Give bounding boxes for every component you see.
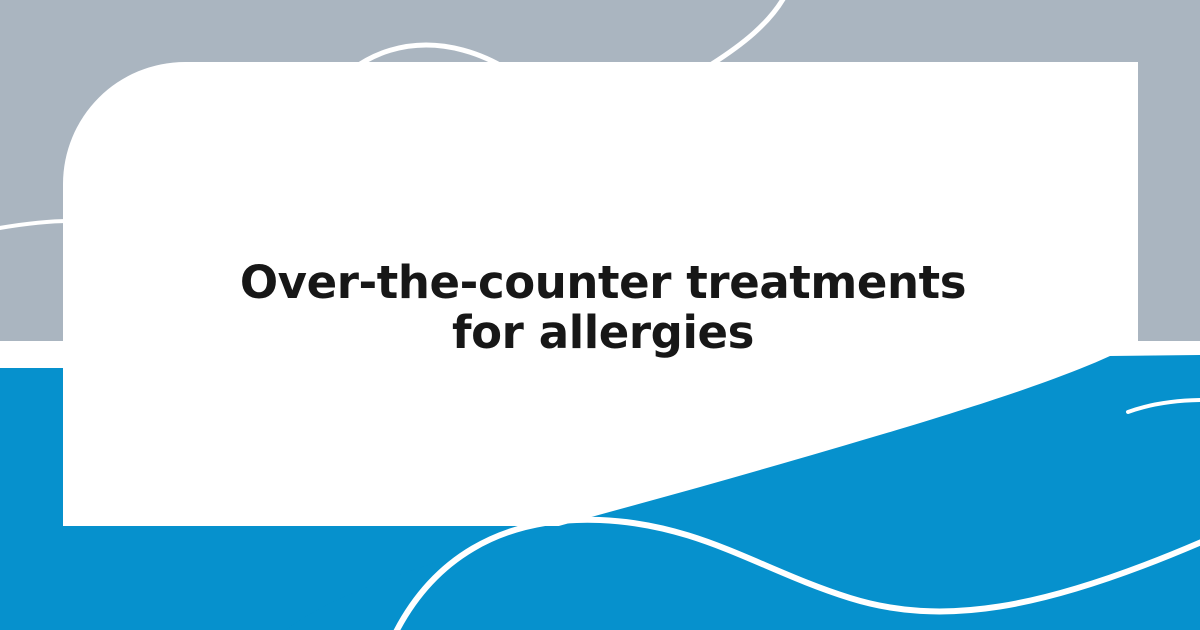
title-container: Over-the-counter treatments for allergie… xyxy=(63,62,1138,526)
page-title: Over-the-counter treatments for allergie… xyxy=(235,258,971,358)
share-card-canvas: Over-the-counter treatments for allergie… xyxy=(0,0,1200,630)
